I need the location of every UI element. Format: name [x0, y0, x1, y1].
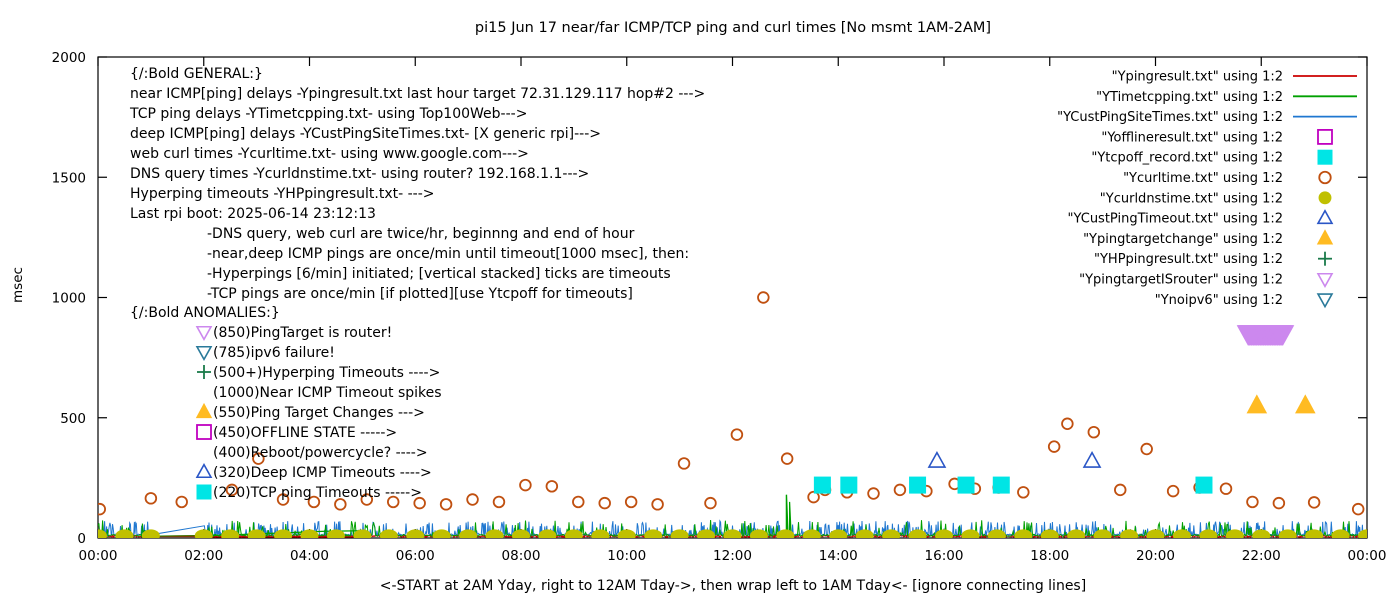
- chart-title: pi15 Jun 17 near/far ICMP/TCP ping and c…: [475, 20, 991, 36]
- ping-target-change-marker: [1296, 395, 1315, 413]
- dns-time-marker: [1252, 529, 1270, 542]
- tcp-timeout-marker: [814, 477, 830, 493]
- legend-label: "YCustPingTimeout.txt" using 1:2: [1068, 212, 1283, 227]
- dns-time-marker: [1358, 529, 1376, 542]
- dns-time-marker: [1332, 529, 1350, 542]
- anomaly-line: (500+)Hyperping Timeouts ---->: [213, 365, 440, 381]
- dns-time-marker: [671, 529, 689, 542]
- anomaly-line: (850)PingTarget is router!: [213, 325, 392, 341]
- anomaly-line: (320)Deep ICMP Timeouts ---->: [213, 465, 432, 481]
- dns-time-marker: [1226, 529, 1244, 542]
- curl-time-marker: [176, 497, 187, 508]
- anomaly-marker-filled-triangle-up: [197, 404, 212, 418]
- dns-time-marker: [274, 529, 292, 542]
- dns-time-marker: [512, 529, 530, 542]
- general-heading: {/:Bold GENERAL:}: [130, 66, 263, 82]
- legend-label: "YTimetcpping.txt" using 1:2: [1096, 90, 1283, 105]
- dns-time-marker: [618, 529, 636, 542]
- curl-time-marker: [1274, 498, 1285, 509]
- general-line: Last rpi boot: 2025-06-14 23:12:13: [130, 206, 376, 222]
- x-tick-label: 20:00: [1136, 548, 1175, 564]
- anomaly-marker-open-triangle-down: [197, 347, 211, 360]
- y-tick-label: 2000: [52, 50, 86, 66]
- anomaly-line: (550)Ping Target Changes --->: [213, 405, 425, 421]
- dns-time-marker: [961, 529, 979, 542]
- legend-marker-swatch: [1318, 130, 1332, 144]
- dns-time-marker: [856, 529, 874, 542]
- general-indented-line: -Hyperpings [6/min] initiated; [vertical…: [207, 266, 671, 282]
- tcp-timeout-marker: [841, 477, 857, 493]
- series-pingtarget-is-router: [1238, 326, 1293, 344]
- curl-time-marker: [1062, 418, 1073, 429]
- legend-marker-swatch: [1319, 192, 1331, 204]
- anomaly-line: (400)Reboot/powercycle? ---->: [213, 445, 428, 461]
- series-deep-icmp-timeouts: [929, 453, 1100, 467]
- dns-time-marker: [697, 529, 715, 542]
- dns-time-marker: [1041, 529, 1059, 542]
- anomaly-marker-plus: [197, 365, 211, 379]
- curl-time-marker: [94, 504, 105, 515]
- series-tcp-timeouts: [814, 477, 1212, 493]
- legend-marker-swatch: [1319, 172, 1330, 183]
- curl-time-marker: [520, 480, 531, 491]
- dns-time-marker: [221, 529, 239, 542]
- x-tick-label: 18:00: [1030, 548, 1069, 564]
- x-tick-label: 22:00: [1242, 548, 1281, 564]
- x-tick-label: 14:00: [819, 548, 858, 564]
- curl-time-marker: [782, 453, 793, 464]
- x-axis-label: <-START at 2AM Yday, right to 12AM Tday-…: [380, 578, 1086, 594]
- curl-time-marker: [1115, 485, 1126, 496]
- dns-time-marker: [988, 529, 1006, 542]
- curl-time-marker: [1309, 497, 1320, 508]
- dns-time-marker: [644, 529, 662, 542]
- legend-label: "Ypingresult.txt" using 1:2: [1112, 70, 1283, 85]
- dns-time-marker: [459, 529, 477, 542]
- dns-time-marker: [406, 529, 424, 542]
- anomalies-annotation-block: {/:Bold ANOMALIES:}(850)PingTarget is ro…: [130, 305, 442, 501]
- anomaly-line: (450)OFFLINE STATE ----->: [213, 425, 397, 441]
- legend: "Ypingresult.txt" using 1:2"YTimetcpping…: [1057, 70, 1357, 308]
- dns-time-marker: [776, 529, 794, 542]
- y-tick-label: 1000: [52, 291, 86, 307]
- dns-time-marker: [486, 529, 504, 542]
- curl-time-marker: [868, 488, 879, 499]
- y-axis-label: msec: [10, 267, 26, 303]
- dns-time-marker: [1147, 529, 1165, 542]
- dns-time-marker: [195, 529, 213, 542]
- deep-icmp-timeout-marker: [1084, 453, 1100, 467]
- curl-time-marker: [626, 497, 637, 508]
- legend-marker-swatch: [1318, 294, 1332, 307]
- dns-time-marker: [433, 529, 451, 542]
- legend-marker-swatch: [1318, 230, 1333, 244]
- dns-time-marker: [89, 529, 107, 542]
- dns-time-marker: [115, 529, 133, 542]
- anomaly-marker-filled-square: [197, 485, 211, 499]
- x-tick-label: 08:00: [502, 548, 541, 564]
- gnuplot-chart: pi15 Jun 17 near/far ICMP/TCP ping and c…: [0, 0, 1400, 600]
- general-line: DNS query times -Ycurldnstime.txt- using…: [130, 166, 589, 182]
- curl-time-marker: [1088, 427, 1099, 438]
- dns-time-marker: [1094, 529, 1112, 542]
- x-tick-label: 06:00: [396, 548, 435, 564]
- general-line: web curl times -Ycurltime.txt- using www…: [130, 146, 529, 162]
- deep-icmp-timeout-marker: [929, 453, 945, 467]
- legend-label: "Ytcpoff_record.txt" using 1:2: [1091, 151, 1283, 166]
- dns-time-marker: [750, 529, 768, 542]
- dns-time-marker: [829, 529, 847, 542]
- tcp-timeout-marker: [993, 477, 1009, 493]
- legend-label: "Ynoipv6" using 1:2: [1155, 293, 1283, 308]
- x-tick-label: 00:00: [79, 548, 118, 564]
- curl-time-marker: [467, 494, 478, 505]
- general-indented-line: -near,deep ICMP pings are once/min until…: [207, 246, 689, 262]
- curl-time-marker: [1247, 497, 1258, 508]
- dns-time-marker: [591, 529, 609, 542]
- chart-svg: pi15 Jun 17 near/far ICMP/TCP ping and c…: [0, 0, 1400, 600]
- curl-time-marker: [1049, 441, 1060, 452]
- dns-time-marker: [538, 529, 556, 542]
- general-indented-line: -DNS query, web curl are twice/hr, begin…: [207, 226, 635, 242]
- ping-target-change-marker: [1247, 395, 1266, 413]
- legend-label: "YHPpingresult.txt" using 1:2: [1094, 252, 1283, 267]
- legend-label: "YpingtargetISrouter" using 1:2: [1079, 273, 1283, 288]
- y-tick-label: 0: [77, 531, 86, 547]
- series-ping-target-changes: [1247, 395, 1314, 413]
- curl-time-marker: [441, 499, 452, 510]
- anomaly-line: (220)TCP ping Timeouts ----->: [213, 485, 422, 501]
- legend-label: "Ycurldnstime.txt" using 1:2: [1100, 191, 1283, 206]
- curl-time-marker: [705, 498, 716, 509]
- series-dns-times: [89, 529, 1376, 542]
- dns-time-marker: [1120, 529, 1138, 542]
- dns-time-marker: [1014, 529, 1032, 542]
- anomaly-line: (1000)Near ICMP Timeout spikes: [213, 385, 442, 401]
- y-tick-label: 1500: [52, 170, 86, 186]
- tcp-timeout-marker: [1196, 477, 1212, 493]
- curl-time-marker: [547, 481, 558, 492]
- anomaly-line: (785)ipv6 failure!: [213, 345, 335, 361]
- curl-time-marker: [758, 292, 769, 303]
- general-line: near ICMP[ping] delays -Ypingresult.txt …: [130, 86, 705, 102]
- x-tick-label: 10:00: [607, 548, 646, 564]
- curl-time-marker: [573, 497, 584, 508]
- anomaly-marker-open-triangle-down: [197, 327, 211, 340]
- curl-time-marker: [146, 493, 157, 504]
- anomalies-heading: {/:Bold ANOMALIES:}: [130, 305, 280, 321]
- y-tick-label: 500: [60, 411, 86, 427]
- general-indented-line: -TCP pings are once/min [if plotted][use…: [207, 286, 633, 302]
- dns-time-marker: [803, 529, 821, 542]
- dns-time-marker: [1279, 529, 1297, 542]
- curl-time-marker: [1168, 486, 1179, 497]
- dns-time-marker: [353, 529, 371, 542]
- general-line: Hyperping timeouts -YHPpingresult.txt- -…: [130, 186, 435, 202]
- x-tick-label: 16:00: [925, 548, 964, 564]
- tcp-timeout-marker: [958, 477, 974, 493]
- curl-time-marker: [732, 429, 743, 440]
- dns-time-marker: [882, 529, 900, 542]
- dns-time-marker: [380, 529, 398, 542]
- legend-label: "Yofflineresult.txt" using 1:2: [1101, 130, 1283, 145]
- dns-time-marker: [1067, 529, 1085, 542]
- dns-time-marker: [1199, 529, 1217, 542]
- dns-time-marker: [1305, 529, 1323, 542]
- curl-time-marker: [1221, 483, 1232, 494]
- curl-time-marker: [1141, 444, 1152, 455]
- curl-time-marker: [599, 498, 610, 509]
- legend-label: "Ypingtargetchange" using 1:2: [1083, 232, 1283, 247]
- dns-time-marker: [327, 529, 345, 542]
- x-tick-label: 04:00: [290, 548, 329, 564]
- general-line: deep ICMP[ping] delays -YCustPingSiteTim…: [130, 126, 601, 142]
- curl-time-marker: [1353, 504, 1364, 515]
- legend-label: "Ycurltime.txt" using 1:2: [1123, 171, 1283, 186]
- dns-time-marker: [909, 529, 927, 542]
- dns-time-marker: [248, 529, 266, 542]
- curl-time-marker: [652, 499, 663, 510]
- general-annotation-block: {/:Bold GENERAL:}near ICMP[ping] delays …: [129, 66, 705, 302]
- curl-time-marker: [1018, 487, 1029, 498]
- x-tick-label: 00:00: [1348, 548, 1387, 564]
- anomaly-marker-open-square: [197, 425, 211, 439]
- legend-marker-swatch: [1318, 274, 1332, 287]
- anomaly-marker-open-triangle-up: [197, 465, 211, 478]
- x-tick-label: 02:00: [184, 548, 223, 564]
- legend-marker-swatch: [1318, 252, 1332, 266]
- curl-time-marker: [494, 497, 505, 508]
- general-line: TCP ping delays -YTimetcpping.txt- using…: [129, 106, 527, 122]
- dns-time-marker: [301, 529, 319, 542]
- dns-time-marker: [565, 529, 583, 542]
- dns-time-marker: [724, 529, 742, 542]
- curl-time-marker: [679, 458, 690, 469]
- dns-time-marker: [935, 529, 953, 542]
- legend-marker-swatch: [1318, 211, 1332, 224]
- legend-marker-swatch: [1318, 150, 1332, 164]
- x-tick-label: 12:00: [713, 548, 752, 564]
- legend-label: "YCustPingSiteTimes.txt" using 1:2: [1057, 110, 1283, 125]
- dns-time-marker: [1173, 529, 1191, 542]
- curl-time-marker: [895, 485, 906, 496]
- dns-time-marker: [142, 529, 160, 542]
- tcp-timeout-marker: [910, 477, 926, 493]
